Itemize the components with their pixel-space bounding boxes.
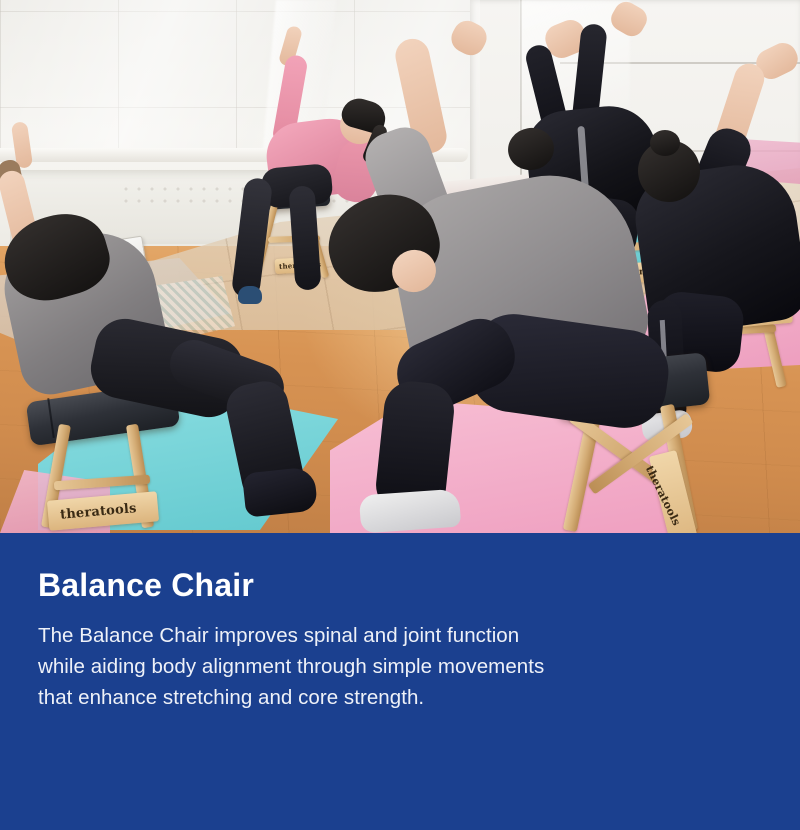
participant-sock [359,489,461,533]
description-line-2: while aiding body alignment through simp… [38,651,738,682]
info-panel-content: Balance Chair The Balance Chair improves… [38,568,762,713]
info-panel: Balance Chair The Balance Chair improves… [0,533,800,830]
chair-brand-label: theratools [60,501,138,523]
product-card: theratools t [0,0,800,830]
description-line-3: that enhance stretching and core strengt… [38,682,738,713]
participant-foot [242,466,318,517]
product-title: Balance Chair [38,568,762,604]
product-description: The Balance Chair improves spinal and jo… [38,620,738,713]
participant-hair-bun [650,130,680,156]
product-photo: theratools t [0,0,800,533]
description-line-1: The Balance Chair improves spinal and jo… [38,620,738,651]
participant-sock [238,286,262,304]
